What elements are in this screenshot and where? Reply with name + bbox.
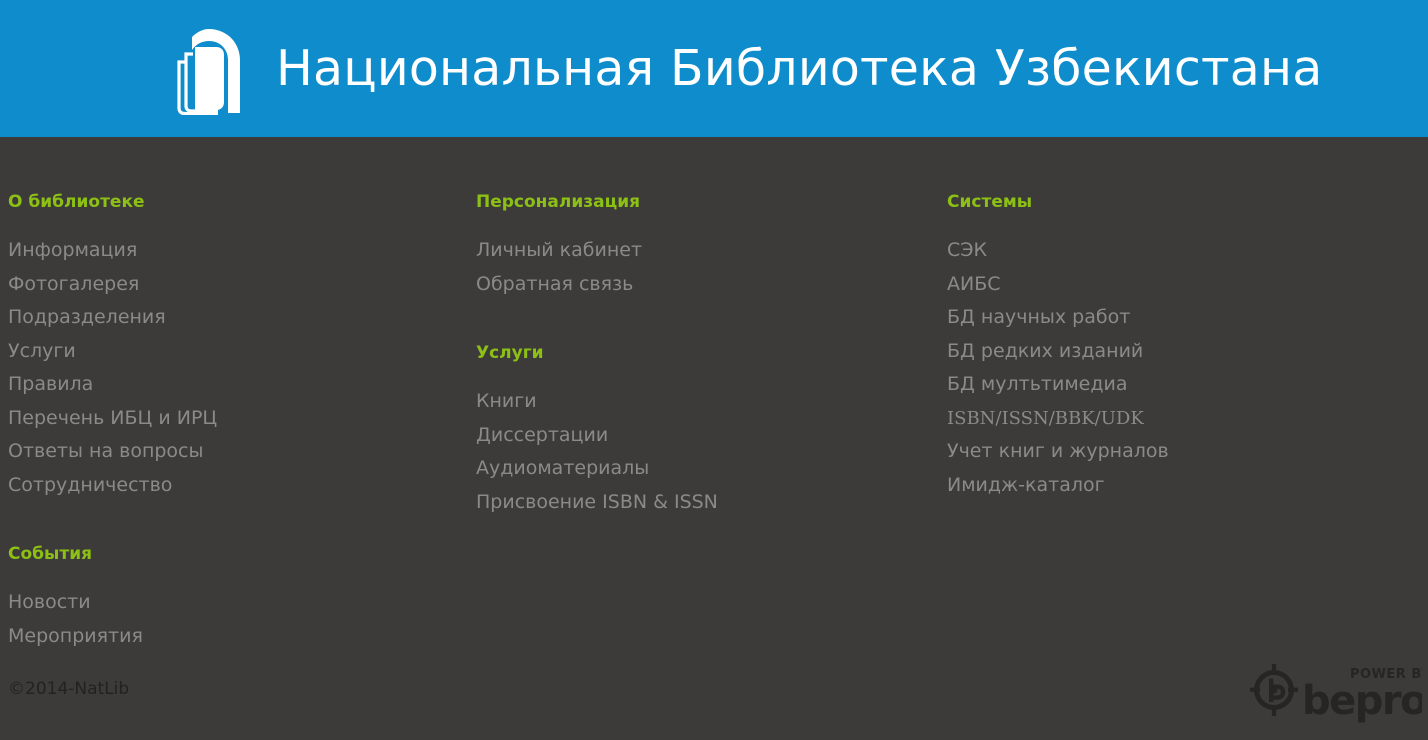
list-item: Фотогалерея bbox=[8, 268, 428, 302]
list-item: Книги bbox=[476, 385, 896, 419]
nav-link-bd-multimedia[interactable]: БД мултьтимедиа bbox=[947, 368, 1387, 402]
library-arch-books-icon bbox=[168, 23, 254, 115]
nav-list-services: Книги Диссертации Аудиоматериалы Присвое… bbox=[476, 385, 896, 519]
nav-group-systems: Системы СЭК АИБС БД научных работ БД ред… bbox=[947, 137, 1387, 502]
nav-link-informaciya[interactable]: Информация bbox=[8, 234, 428, 268]
list-item: Аудиоматериалы bbox=[476, 452, 896, 486]
nav-link-sotrudnichestvo[interactable]: Сотрудничество bbox=[8, 469, 428, 503]
nav-link-bd-redkih-izdaniy[interactable]: БД редких изданий bbox=[947, 335, 1387, 369]
nav-link-perechen-ibc-irc[interactable]: Перечень ИБЦ и ИРЦ bbox=[8, 402, 428, 436]
bepro-circular-b-icon bbox=[1250, 664, 1298, 716]
footer-bottom-bar: ©2014-NatLib POWER bbox=[0, 648, 1428, 740]
nav-link-obratnaya-svyaz[interactable]: Обратная связь bbox=[476, 268, 896, 302]
list-item: Информация bbox=[8, 234, 428, 268]
nav-link-isbn-issn-bbk-udk[interactable]: ISBN/ISSN/BBK/UDK bbox=[947, 402, 1387, 436]
list-item: БД научных работ bbox=[947, 301, 1387, 335]
bepro-attribution[interactable]: POWER BY bepro bbox=[1250, 662, 1422, 724]
nav-group-services: Услуги Книги Диссертации Аудиоматериалы … bbox=[476, 331, 896, 519]
list-item: Подразделения bbox=[8, 301, 428, 335]
page-title: Национальная Библиотека Узбекистана bbox=[276, 44, 1322, 93]
nav-link-fotogalereya[interactable]: Фотогалерея bbox=[8, 268, 428, 302]
nav-link-imidzh-katalog[interactable]: Имидж-каталог bbox=[947, 469, 1387, 503]
list-item: Ответы на вопросы bbox=[8, 435, 428, 469]
group-heading-personalization: Персонализация bbox=[476, 137, 896, 234]
list-item: Диссертации bbox=[476, 419, 896, 453]
site-header: Национальная Библиотека Узбекистана bbox=[0, 0, 1428, 137]
list-item: Личный кабинет bbox=[476, 234, 896, 268]
group-heading-systems: Системы bbox=[947, 137, 1387, 234]
group-heading-events: События bbox=[8, 532, 428, 586]
nav-link-sek[interactable]: СЭК bbox=[947, 234, 1387, 268]
group-heading-services: Услуги bbox=[476, 331, 896, 385]
nav-group-about: О библиотеке Информация Фотогалерея Подр… bbox=[8, 137, 428, 502]
group-heading-about: О библиотеке bbox=[8, 137, 428, 234]
list-item: Услуги bbox=[8, 335, 428, 369]
nav-link-otvety-na-voprosy[interactable]: Ответы на вопросы bbox=[8, 435, 428, 469]
list-item: Правила bbox=[8, 368, 428, 402]
footer-column-1: О библиотеке Информация Фотогалерея Подр… bbox=[8, 137, 428, 683]
list-item: АИБС bbox=[947, 268, 1387, 302]
nav-list-events: Новости Мероприятия bbox=[8, 586, 428, 653]
list-item: ISBN/ISSN/BBK/UDK bbox=[947, 402, 1387, 436]
nav-link-uslugi[interactable]: Услуги bbox=[8, 335, 428, 369]
list-item: БД мултьтимедиа bbox=[947, 368, 1387, 402]
footer-column-3: Системы СЭК АИБС БД научных работ БД ред… bbox=[947, 137, 1387, 532]
list-item: Учет книг и журналов bbox=[947, 435, 1387, 469]
copyright-text: ©2014-NatLib bbox=[8, 681, 129, 698]
nav-link-dissertacii[interactable]: Диссертации bbox=[476, 419, 896, 453]
nav-link-novosti[interactable]: Новости bbox=[8, 586, 428, 620]
nav-list-about: Информация Фотогалерея Подразделения Усл… bbox=[8, 234, 428, 502]
footer-column-2: Персонализация Личный кабинет Обратная с… bbox=[476, 137, 896, 549]
nav-link-aibs[interactable]: АИБС bbox=[947, 268, 1387, 302]
nav-link-pravila[interactable]: Правила bbox=[8, 368, 428, 402]
nav-list-systems: СЭК АИБС БД научных работ БД редких изда… bbox=[947, 234, 1387, 502]
nav-link-prisvoenie-isbn-issn[interactable]: Присвоение ISBN & ISSN bbox=[476, 486, 896, 520]
nav-link-podrazdeleniya[interactable]: Подразделения bbox=[8, 301, 428, 335]
list-item: Присвоение ISBN & ISSN bbox=[476, 486, 896, 520]
nav-group-personalization: Персонализация Личный кабинет Обратная с… bbox=[476, 137, 896, 301]
nav-link-uchet-knig-i-zhurnalov[interactable]: Учет книг и журналов bbox=[947, 435, 1387, 469]
nav-list-personalization: Личный кабинет Обратная связь bbox=[476, 234, 896, 301]
list-item: БД редких изданий bbox=[947, 335, 1387, 369]
nav-group-events: События Новости Мероприятия bbox=[8, 532, 428, 653]
footer-sitemap: О библиотеке Информация Фотогалерея Подр… bbox=[0, 137, 1428, 740]
list-item: Сотрудничество bbox=[8, 469, 428, 503]
list-item: Новости bbox=[8, 586, 428, 620]
list-item: Перечень ИБЦ и ИРЦ bbox=[8, 402, 428, 436]
nav-link-knigi[interactable]: Книги bbox=[476, 385, 896, 419]
nav-link-lichnyy-kabinet[interactable]: Личный кабинет bbox=[476, 234, 896, 268]
nav-link-bd-nauchnyh-rabot[interactable]: БД научных работ bbox=[947, 301, 1387, 335]
list-item: Обратная связь bbox=[476, 268, 896, 302]
bepro-wordmark: bepro bbox=[1302, 678, 1422, 724]
list-item: Имидж-каталог bbox=[947, 469, 1387, 503]
nav-link-audiomaterialy[interactable]: Аудиоматериалы bbox=[476, 452, 896, 486]
list-item: СЭК bbox=[947, 234, 1387, 268]
